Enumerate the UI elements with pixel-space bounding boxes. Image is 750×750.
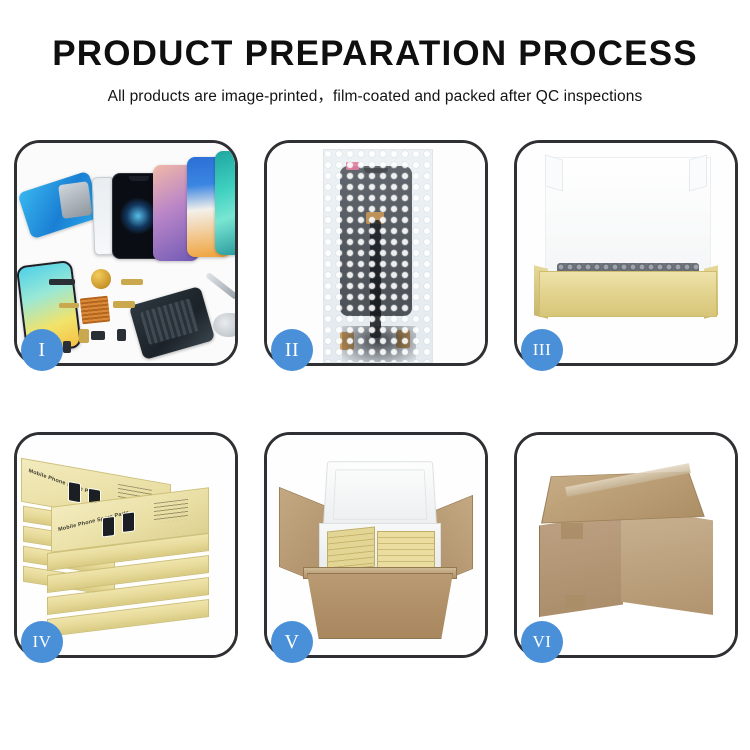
page-subtitle: All products are image-printed，film-coat… <box>0 84 750 106</box>
carton-right-face <box>621 505 713 615</box>
step-panel-4: Mobile Phone Spare Parts Mobile Phone Sp… <box>14 432 238 658</box>
step-badge-2: II <box>271 329 313 371</box>
blue-backplate-phone <box>17 171 102 240</box>
yellow-boxes-group-right <box>377 531 435 571</box>
header: PRODUCT PREPARATION PROCESS All products… <box>0 0 750 106</box>
flex-cable-4 <box>79 329 89 343</box>
kraft-tray-front <box>539 271 717 317</box>
flex-cable-3 <box>113 301 135 308</box>
bubble-wrap-bag <box>323 149 433 363</box>
lid-flap-right <box>689 154 707 191</box>
step-panel-3: III <box>514 140 738 366</box>
teal-gradient-phone <box>215 151 235 255</box>
chip-part-4 <box>63 341 71 353</box>
carton-front-wall <box>307 573 453 639</box>
gold-coil-part <box>91 269 111 289</box>
step-badge-4: IV <box>21 621 63 663</box>
hand-holding-part <box>213 313 235 337</box>
tweezers-tool <box>205 272 235 300</box>
step-panel-6: VI <box>514 432 738 658</box>
flex-cable-1 <box>121 279 143 285</box>
box-label-2: Mobile Phone Spare Parts <box>58 510 130 533</box>
chip-part-3 <box>117 329 126 341</box>
step-panel-2: II <box>264 140 488 366</box>
disassembled-phone-back <box>129 286 216 360</box>
copper-grid-part <box>80 296 111 325</box>
yellow-boxes-group-left <box>327 526 375 571</box>
box-spec-lines-2 <box>154 499 188 523</box>
box-art-b1 <box>102 516 115 538</box>
step-badge-5: V <box>271 621 313 663</box>
step-badge-6: VI <box>521 621 563 663</box>
product-preparation-infographic: PRODUCT PREPARATION PROCESS All products… <box>0 0 750 750</box>
flex-cable-2 <box>59 303 79 308</box>
step-panel-1: I <box>14 140 238 366</box>
chip-part-2 <box>91 331 105 340</box>
carton-tab-upper <box>561 523 583 539</box>
step-badge-1: I <box>21 329 63 371</box>
step-badge-3: III <box>521 329 563 371</box>
bubble-texture <box>324 150 432 362</box>
lid-flap-left <box>545 154 563 191</box>
foam-lid <box>323 461 437 529</box>
carton-tab-lower <box>565 595 585 609</box>
chip-part-1 <box>49 279 75 285</box>
box-art-a1 <box>68 481 81 503</box>
page-title: PRODUCT PREPARATION PROCESS <box>0 34 750 74</box>
step-panel-5: V <box>264 432 488 658</box>
steps-grid: I II <box>14 140 738 658</box>
box-art-b2 <box>122 511 135 533</box>
